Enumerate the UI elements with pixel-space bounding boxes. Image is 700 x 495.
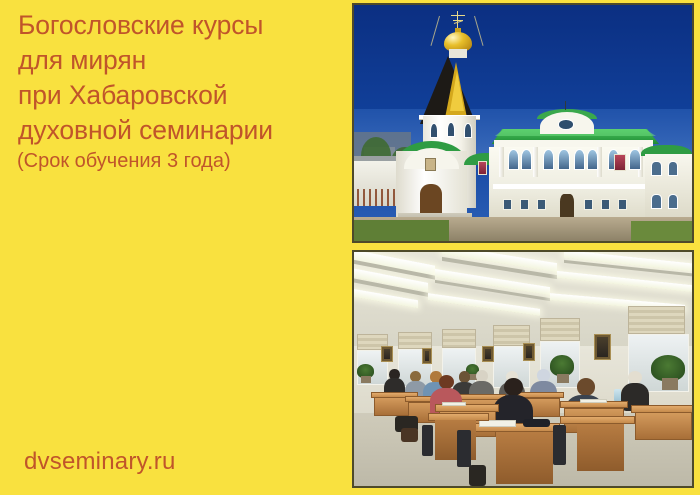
ground-window-3 <box>537 199 546 211</box>
arched-window-1 <box>508 149 519 170</box>
wall-icon-3 <box>482 346 493 363</box>
student-head-m3 <box>577 378 595 395</box>
page-title: Богословские курсы для мирян при Хабаров… <box>18 8 348 148</box>
ground-window-5 <box>601 199 610 211</box>
bag-2 <box>401 428 418 442</box>
plant-pot-4 <box>662 378 679 390</box>
headline-line-2: для мирян <box>18 43 348 78</box>
arched-window-8 <box>629 149 640 170</box>
plant-pot-3 <box>557 374 569 383</box>
main-entrance-door <box>560 194 574 220</box>
arched-window-2 <box>521 149 532 170</box>
desk-f2 <box>577 424 624 471</box>
plant-pot-1 <box>361 376 371 383</box>
wall-icon-2 <box>422 348 433 364</box>
cross-bar-upper <box>451 15 465 16</box>
church-scene <box>354 5 692 241</box>
window-blind-5 <box>540 318 581 341</box>
student-head-b4 <box>459 371 470 382</box>
headline-line-4: духовной семинарии <box>18 113 348 148</box>
folder-f1 <box>523 419 550 426</box>
window-blind-6 <box>628 306 685 334</box>
ground-window-6 <box>618 199 627 211</box>
desk-m3 <box>635 412 692 440</box>
pilaster-3 <box>597 147 602 178</box>
text-panel: Богословские курсы для мирян при Хабаров… <box>0 0 350 495</box>
tower-window-2 <box>447 122 455 137</box>
facade-icon-left <box>478 161 487 175</box>
chair-2 <box>422 425 433 455</box>
chair-3 <box>553 425 565 465</box>
arched-window-6 <box>587 149 598 170</box>
window-blind-3 <box>442 329 476 348</box>
course-duration-subtitle: (Срок обучения 3 года) <box>17 148 231 174</box>
wing-window-1 <box>651 161 661 176</box>
ground-window-2 <box>520 199 529 211</box>
classroom-photo <box>352 250 694 488</box>
wall-icon-5 <box>594 334 611 360</box>
student-head-b7 <box>537 369 551 382</box>
church-photo <box>352 3 694 243</box>
porch-icon <box>425 158 436 171</box>
classroom-scene <box>354 252 692 486</box>
poster-root: Богословские курсы для мирян при Хабаров… <box>0 0 700 495</box>
wall-icon-4 <box>523 343 535 361</box>
arched-window-3 <box>543 149 554 170</box>
wing-window-3 <box>651 194 661 209</box>
tower-window-3 <box>464 123 472 138</box>
ground-window-1 <box>503 199 512 211</box>
arched-window-4 <box>558 149 569 170</box>
notebook-f1 <box>479 420 516 426</box>
chair-1 <box>457 430 471 467</box>
tent-gable-gold-inner <box>450 71 464 111</box>
headline-line-3: при Хабаровской <box>18 78 348 113</box>
pediment-spire <box>565 101 566 110</box>
wall-icon-1 <box>381 346 392 362</box>
window-blind-2 <box>398 332 432 350</box>
water-bottle <box>614 389 621 401</box>
website-url[interactable]: dvseminary.ru <box>24 447 176 477</box>
pediment-round-window <box>558 119 573 130</box>
notebook-m2 <box>580 399 607 403</box>
wing-window-2 <box>668 161 678 176</box>
tower-window-1 <box>430 123 438 138</box>
bag-3 <box>469 465 486 486</box>
notebook-m1 <box>442 402 466 406</box>
facade-icon-right <box>614 154 625 172</box>
plant-4 <box>651 355 685 381</box>
headline-line-1: Богословские курсы <box>18 8 348 43</box>
arched-window-5 <box>574 149 585 170</box>
lawn-left <box>354 220 449 241</box>
pilaster-2 <box>533 147 538 178</box>
pilaster-1 <box>499 147 504 178</box>
tower-guy-wire-left <box>430 15 439 45</box>
wing-window-4 <box>668 194 678 209</box>
desk-f1 <box>496 432 553 483</box>
lawn-right <box>631 221 692 241</box>
tower-guy-wire-right <box>474 15 483 45</box>
desk-top-f2 <box>560 416 634 424</box>
ground-window-4 <box>584 199 593 211</box>
colonnade-band <box>493 184 655 189</box>
